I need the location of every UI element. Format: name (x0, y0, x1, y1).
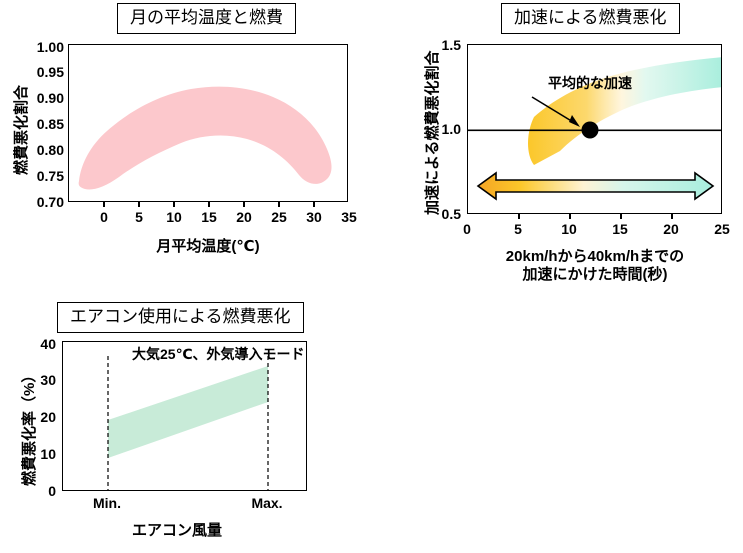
chart2-annotation-label: 平均的な加速 (548, 76, 632, 90)
chart2-double-arrow (478, 173, 713, 199)
chart2-xtickmark-5 (518, 214, 520, 219)
chart3-plot-area (62, 341, 307, 491)
chart2-y-axis-label: 加速による燃費悪化割合 (425, 50, 440, 215)
chart-panel-monthly-temp-fuel: 月の平均温度と燃費 1.00 0.95 0.90 0.85 0.80 0.75 … (0, 0, 371, 280)
chart1-xtickmark-15 (208, 202, 210, 207)
chart1-x-axis-label: 月平均温度(℃) (108, 238, 308, 255)
chart2-xtickmark-15 (620, 214, 622, 219)
chart1-xtickmark-5 (138, 202, 140, 207)
chart1-title: 月の平均温度と燃費 (117, 3, 296, 34)
chart1-ytick-070: 0.70 (22, 195, 64, 209)
chart3-y-axis-label: 燃費悪化率（%） (22, 368, 37, 486)
chart1-xtickmark-10 (173, 202, 175, 207)
chart2-title: 加速による燃費悪化 (501, 3, 680, 34)
chart3-band-svg (63, 342, 307, 491)
chart1-xtickmark-30 (313, 202, 315, 207)
chart1-xtick-5: 5 (124, 210, 154, 224)
chart1-plot-area (68, 44, 348, 202)
chart-panel-acceleration-fuel: 加速による燃費悪化 1.5 1.0 0.5 加速による燃費悪化割合 (400, 0, 743, 290)
chart2-band-svg (468, 45, 722, 214)
chart-panel-aircon-fuel: エアコン使用による燃費悪化 40 30 20 10 0 燃費悪化率（%） 大気2… (0, 290, 360, 553)
chart3-ytick-0: 0 (30, 484, 56, 498)
chart2-average-point-dot (582, 122, 599, 139)
chart1-pink-band (79, 87, 332, 190)
chart1-xtick-15: 15 (194, 210, 224, 224)
chart2-x-axis-label-line2: 加速にかけた時間(秒) (465, 266, 725, 283)
chart2-xtickmark-20 (671, 214, 673, 219)
chart2-xtick-0: 0 (453, 222, 481, 236)
chart2-xtickmark-10 (569, 214, 571, 219)
chart3-annotation-label: 大気25℃、外気導入モード (132, 347, 305, 361)
chart1-xtickmark-25 (278, 202, 280, 207)
chart1-xtick-25: 25 (264, 210, 294, 224)
chart1-ytick-100: 1.00 (22, 40, 64, 54)
chart1-xtickmark-20 (243, 202, 245, 207)
chart2-xtick-10: 10 (555, 222, 583, 236)
chart2-xtick-5: 5 (504, 222, 532, 236)
chart2-xtick-20: 20 (657, 222, 685, 236)
chart2-xtick-15: 15 (606, 222, 634, 236)
chart2-xtick-25: 25 (708, 222, 736, 236)
chart3-x-axis-label: エアコン風量 (77, 522, 277, 539)
chart3-ytick-40: 40 (30, 337, 56, 351)
chart3-xtick-max: Max. (247, 496, 287, 510)
chart1-band-svg (69, 45, 348, 202)
chart2-x-axis-label-line1: 20km/hから40km/hまでの (465, 248, 725, 265)
chart1-xtickmark-0 (103, 202, 105, 207)
chart1-xtick-30: 30 (299, 210, 329, 224)
chart3-xtick-min: Min. (87, 496, 127, 510)
chart1-xtick-20: 20 (229, 210, 259, 224)
chart2-plot-area (467, 44, 722, 214)
chart3-mint-band (108, 366, 268, 458)
chart2-gradient-band (528, 57, 722, 165)
chart1-ytick-095: 0.95 (22, 65, 64, 79)
chart3-title: エアコン使用による燃費悪化 (57, 302, 304, 333)
chart1-xtick-0: 0 (89, 210, 119, 224)
chart1-y-axis-label: 燃費悪化割合 (14, 85, 29, 175)
chart1-xtick-10: 10 (159, 210, 189, 224)
chart1-xtick-35: 35 (334, 210, 364, 224)
